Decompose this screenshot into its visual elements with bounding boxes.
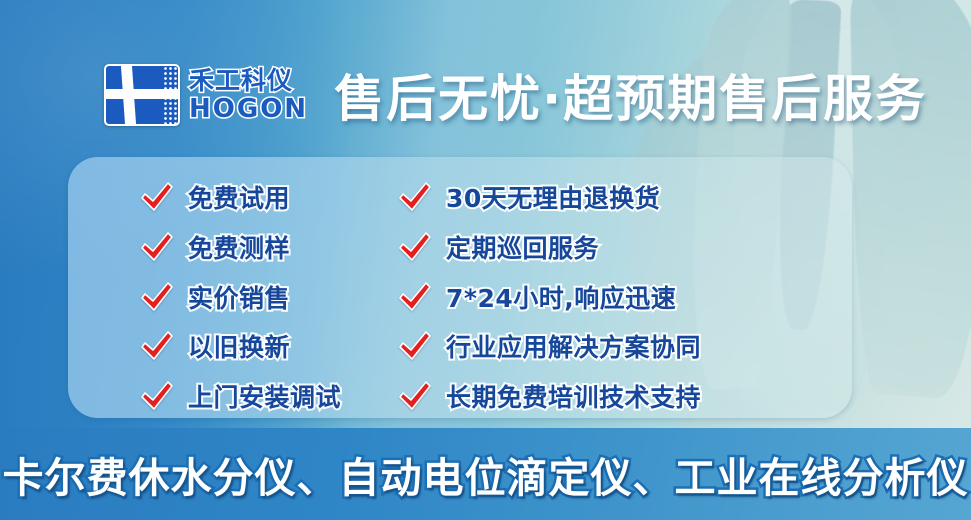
feature-label: 定期巡回服务: [446, 229, 599, 265]
banner-header: 禾工科仪 HOGON 售后无忧·超预期售后服务: [104, 58, 927, 132]
red-checkmark-icon: [140, 331, 174, 361]
red-checkmark-icon: [398, 282, 432, 312]
list-item: 30天无理由退换货: [398, 175, 852, 219]
red-checkmark-icon: [140, 182, 174, 212]
red-checkmark-icon: [398, 381, 432, 411]
brand-name-en: HOGON: [189, 96, 308, 122]
red-checkmark-icon: [140, 282, 174, 312]
list-item: 定期巡回服务: [398, 225, 852, 269]
feature-label: 长期免费培训技术支持: [446, 378, 701, 414]
flag-cross-vertical: [121, 64, 137, 126]
feature-label: 免费测样: [188, 229, 290, 265]
feature-label: 上门安装调试: [188, 378, 341, 414]
page-title: 售后无忧·超预期售后服务: [334, 59, 927, 131]
feature-label: 以旧换新: [188, 328, 290, 364]
footer-band: 卡尔费休水分仪、自动电位滴定仪、工业在线分析仪: [0, 428, 971, 520]
brand-name-cn: 禾工科仪: [189, 68, 308, 93]
list-item: 长期免费培训技术支持: [398, 374, 852, 418]
product-list-text: 卡尔费休水分仪、自动电位滴定仪、工业在线分析仪: [3, 444, 969, 504]
red-checkmark-icon: [140, 381, 174, 411]
list-item: 上门安装调试: [140, 374, 398, 418]
brand-wordmark: 禾工科仪 HOGON: [189, 68, 308, 122]
promo-banner: 禾工科仪 HOGON 售后无忧·超预期售后服务 免费试用 免费测样 实价销售: [0, 0, 971, 520]
list-item: 免费测样: [140, 225, 398, 269]
features-panel: 免费试用 免费测样 实价销售 以旧换新 上门安装调试: [68, 157, 852, 418]
feature-label: 行业应用解决方案协同: [446, 328, 701, 364]
features-columns: 免费试用 免费测样 实价销售 以旧换新 上门安装调试: [68, 157, 852, 418]
feature-label: 免费试用: [188, 179, 290, 215]
list-item: 免费试用: [140, 175, 398, 219]
red-checkmark-icon: [140, 232, 174, 262]
list-item: 实价销售: [140, 275, 398, 319]
features-column-right: 30天无理由退换货 定期巡回服务 7*24小时,响应迅速 行业应用解决方案协同 …: [398, 175, 852, 418]
list-item: 行业应用解决方案协同: [398, 324, 852, 368]
red-checkmark-icon: [398, 182, 432, 212]
red-checkmark-icon: [398, 232, 432, 262]
nordic-cross-flag-icon: [104, 64, 180, 126]
list-item: 以旧换新: [140, 324, 398, 368]
list-item: 7*24小时,响应迅速: [398, 275, 852, 319]
red-checkmark-icon: [398, 331, 432, 361]
feature-label: 实价销售: [188, 279, 290, 315]
halftone-dots-icon: [163, 66, 178, 124]
features-column-left: 免费试用 免费测样 实价销售 以旧换新 上门安装调试: [68, 175, 398, 418]
feature-label: 30天无理由退换货: [446, 179, 660, 215]
feature-label: 7*24小时,响应迅速: [446, 279, 676, 315]
